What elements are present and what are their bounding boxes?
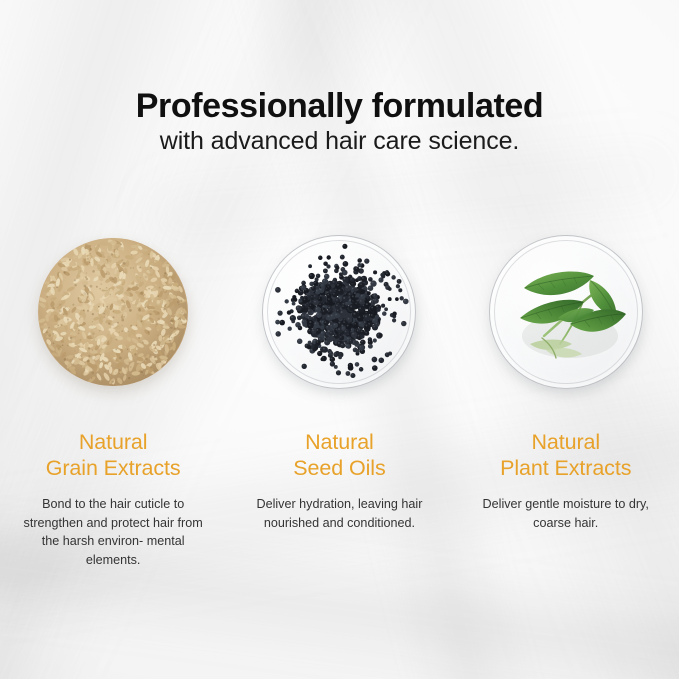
column-title-line1: Natural — [531, 430, 600, 454]
header-block: Professionally formulated with advanced … — [0, 88, 679, 156]
grain-pile-shape — [38, 238, 188, 386]
column-title: Natural Plant Extracts — [500, 430, 631, 481]
column-body-text: Bond to the hair cuticle to strengthen a… — [15, 495, 211, 569]
column-title: Natural Seed Oils — [293, 430, 385, 481]
grain-kernels-graphic — [38, 238, 188, 386]
black-seeds-dish-image — [259, 232, 419, 392]
feature-column-plants: Natural Plant Extracts Deliver gentle mo… — [453, 232, 679, 569]
green-leaves-dish-image — [486, 232, 646, 392]
feature-columns: Natural Grain Extracts Bond to the hair … — [0, 232, 679, 569]
column-title-line2: Seed Oils — [293, 456, 385, 480]
column-title: Natural Grain Extracts — [46, 430, 181, 481]
infographic-canvas: Professionally formulated with advanced … — [0, 0, 679, 679]
green-leaves-graphic — [486, 232, 646, 392]
feature-column-grain: Natural Grain Extracts Bond to the hair … — [0, 232, 226, 569]
black-seeds-graphic — [259, 232, 419, 392]
feature-column-seeds: Natural Seed Oils Deliver hydration, lea… — [226, 232, 452, 569]
column-title-line2: Plant Extracts — [500, 456, 631, 480]
column-title-line2: Grain Extracts — [46, 456, 181, 480]
page-subheadline: with advanced hair care science. — [0, 127, 679, 156]
column-title-line1: Natural — [79, 430, 148, 454]
column-body-text: Deliver hydration, leaving hair nourishe… — [241, 495, 437, 532]
column-body-text: Deliver gentle moisture to dry, coarse h… — [468, 495, 664, 532]
column-title-line1: Natural — [305, 430, 374, 454]
grain-pile-image — [33, 232, 193, 392]
page-headline: Professionally formulated — [0, 88, 679, 124]
